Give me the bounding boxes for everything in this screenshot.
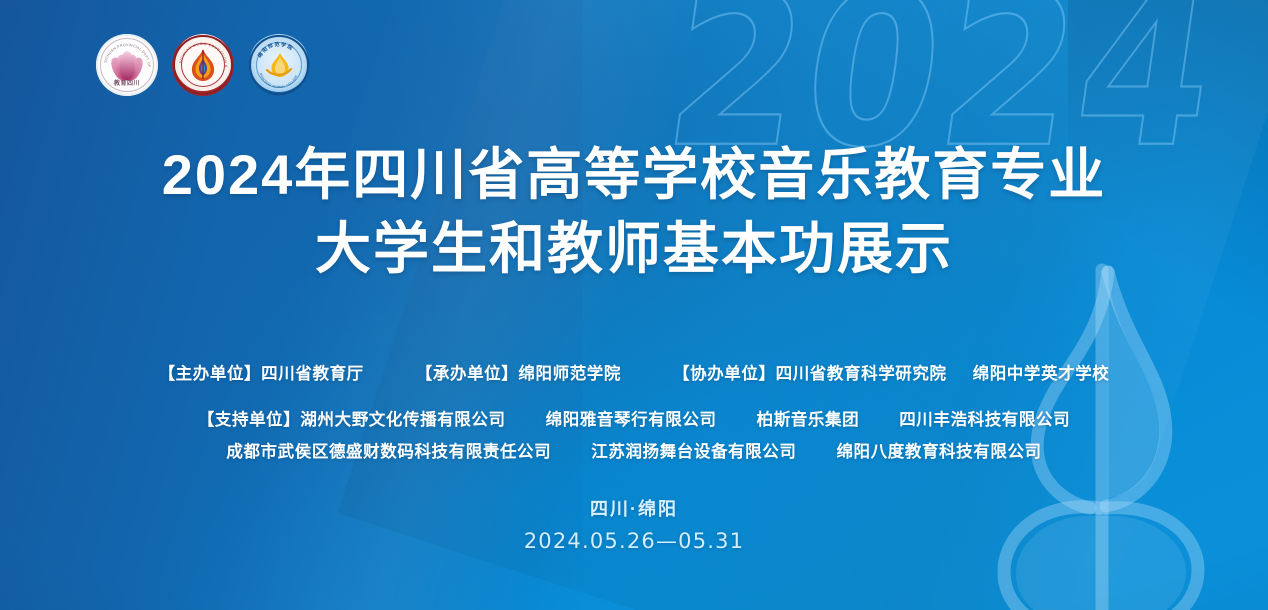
support-value-2: 绵阳雅音琴行有限公司 [546,411,717,429]
credits-row-3: 成都市武侯区德盛财数码科技有限责任公司江苏润扬舞台设备有限公司绵阳八度教育科技有… [0,436,1268,468]
logo-jiaoyu-sichuan: SICHUAN PROVINCIAL DEPT OF EDUCATION 教育四… [96,34,158,96]
support-value-6: 江苏润扬舞台设备有限公司 [591,443,796,461]
event-location: 四川·绵阳 [0,495,1268,523]
organizer-value: 绵阳师范学院 [518,365,621,383]
host-value: 四川省教育厅 [261,365,364,383]
host-label: 【主办单位】 [159,365,262,383]
logo-red-seal-flame: SICHUAN MUSIC EDUCATION ASSOCIATION [172,34,234,96]
credits-row-1: 【主办单位】四川省教育厅【承办单位】绵阳师范学院【协办单位】四川省教育科学研究院… [0,358,1268,390]
support-value-5: 成都市武侯区德盛财数码科技有限责任公司 [226,443,551,461]
support-value-1: 湖州大野文化传播有限公司 [300,411,505,429]
lotus-petal-center [120,51,135,80]
coorganizer-label: 【协办单位】 [673,365,776,383]
credits-row-2: 【支持单位】湖州大野文化传播有限公司绵阳雅音琴行有限公司柏斯音乐集团四川丰浩科技… [0,404,1268,436]
support-label: 【支持单位】 [198,411,301,429]
logo-mianyang-normal-college: 绵阳师范学院 MIANYANG NORMAL COLLEGE [248,34,310,96]
event-poster: 2024 SICHUAN PROVINCIAL DEPT OF EDUCATIO… [0,0,1268,610]
support-value-3: 柏斯音乐集团 [757,411,860,429]
flame-icon [265,52,293,78]
logo-caption: 教育四川 [104,78,150,87]
organizer-label: 【承办单位】 [416,365,519,383]
coorganizer-value-2: 绵阳中学英才学校 [973,365,1110,383]
event-date-range: 2024.05.26—05.31 [0,527,1268,555]
poster-footer: 四川·绵阳 2024.05.26—05.31 [0,495,1268,555]
support-value-4: 四川丰浩科技有限公司 [899,411,1070,429]
coorganizer-value-1: 四川省教育科学研究院 [776,365,947,383]
organizer-logo-row: SICHUAN PROVINCIAL DEPT OF EDUCATION 教育四… [96,34,310,96]
flame-icon [188,48,218,82]
credits-block: 【主办单位】四川省教育厅【承办单位】绵阳师范学院【协办单位】四川省教育科学研究院… [0,358,1268,468]
support-value-7: 绵阳八度教育科技有限公司 [836,443,1041,461]
